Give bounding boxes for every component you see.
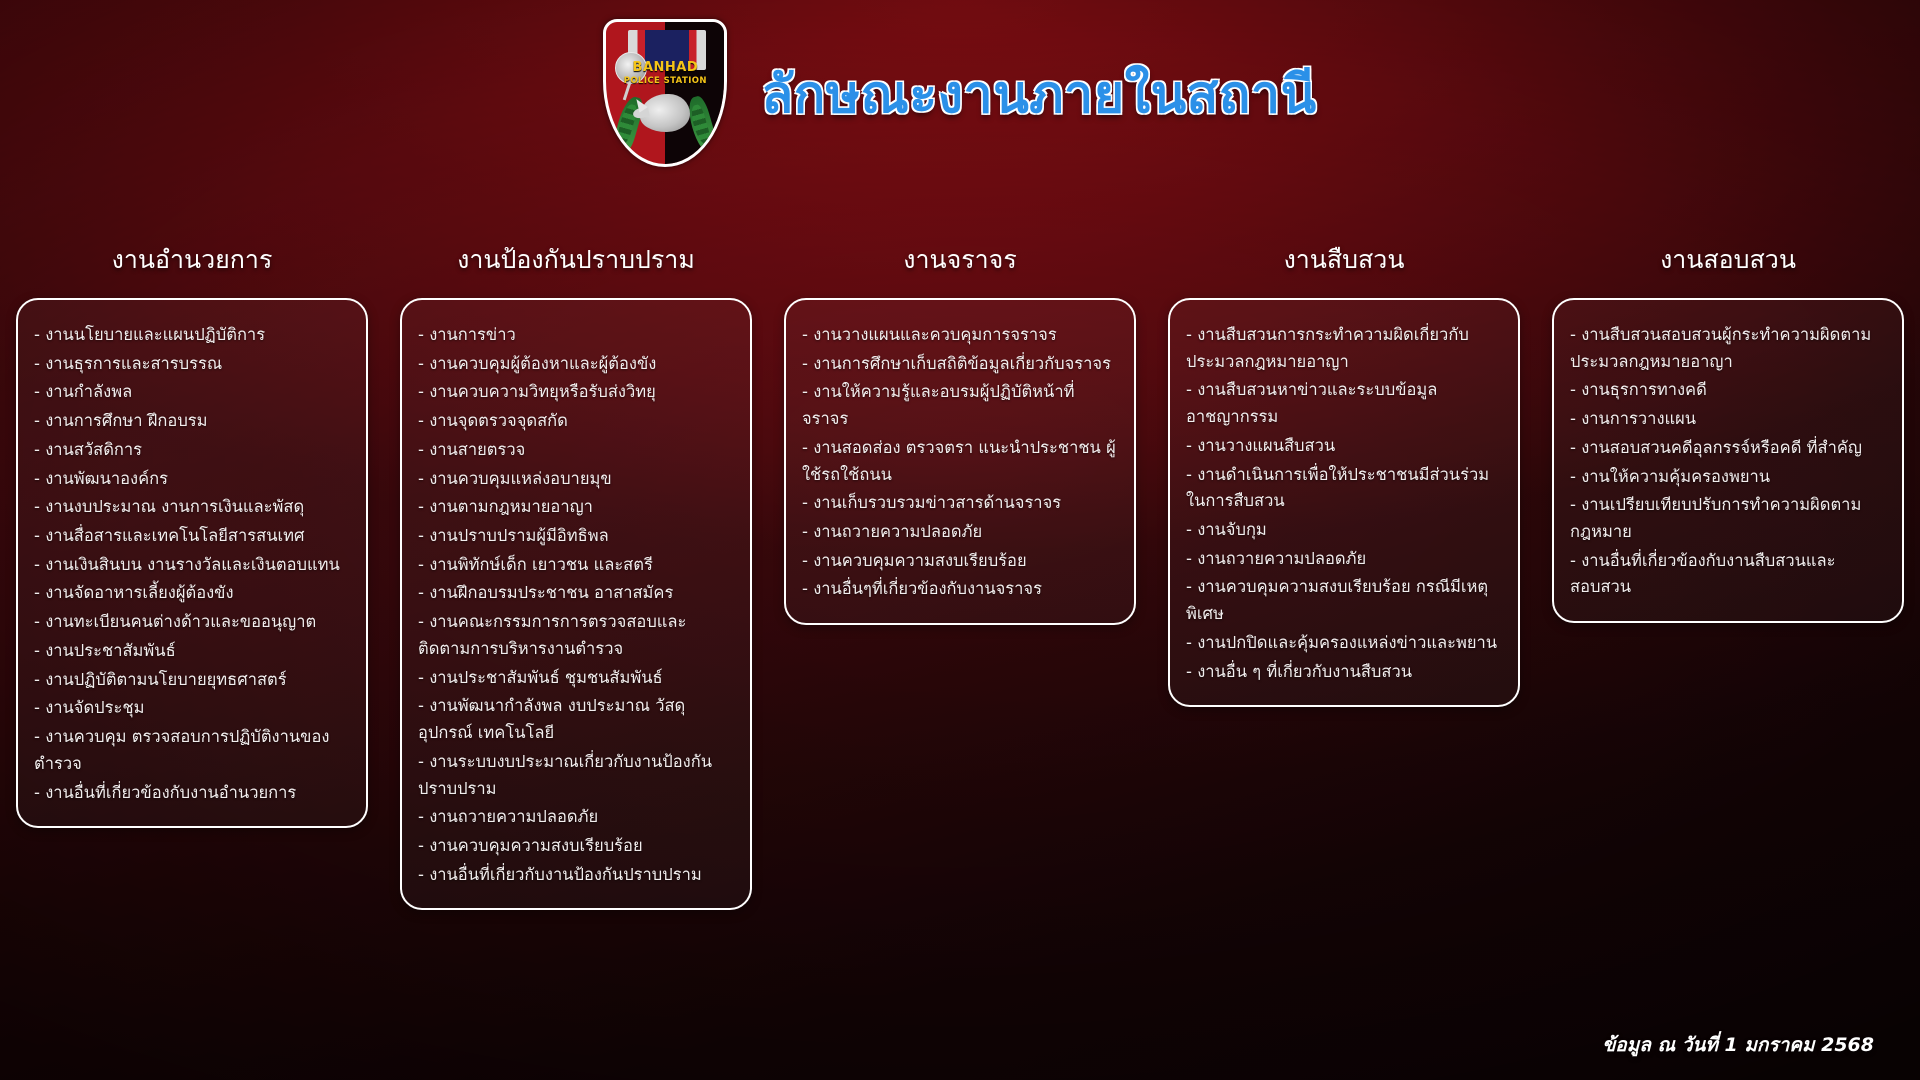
list-item: - งานอื่นที่เกี่ยวข้องกับงานสืบสวนและสอบ… xyxy=(1570,548,1886,601)
list-item: - งานอื่นที่เกี่ยวข้องกับงานอำนวยการ xyxy=(34,780,350,807)
list-item: - งานเก็บรวบรวมข่าวสารด้านจราจร xyxy=(802,490,1118,517)
list-item: - งานระบบงบประมาณเกี่ยวกับงานป้องกันปราบ… xyxy=(418,749,734,802)
list-item: - งานควบคุมความสงบเรียบร้อย กรณีมีเหตุพิ… xyxy=(1186,574,1502,627)
list-item: - งานควบคุมแหล่งอบายมุข xyxy=(418,466,734,493)
list-item: - งานวางแผนและควบคุมการจราจร xyxy=(802,322,1118,349)
column-administration: งานอำนวยการ - งานนโยบายและแผนปฏิบัติการ-… xyxy=(0,240,384,828)
badge-station-subtitle: POLICE STATION xyxy=(606,76,724,86)
column-items-box: - งานนโยบายและแผนปฏิบัติการ- งานธุรการแล… xyxy=(16,298,368,828)
column-title: งานสืบสวน xyxy=(1284,240,1405,280)
list-item: - งานกำลังพล xyxy=(34,379,350,406)
list-item: - งานตามกฎหมายอาญา xyxy=(418,494,734,521)
list-item: - งานวางแผนสืบสวน xyxy=(1186,433,1502,460)
list-item: - งานการวางแผน xyxy=(1570,406,1886,433)
badge-station-name: BANHAD xyxy=(606,60,724,75)
column-items-box: - งานสืบสวนการกระทำความผิดเกี่ยวกับประมว… xyxy=(1168,298,1520,707)
list-item: - งานสืบสวนหาข่าวและระบบข้อมูลอาชญากรรม xyxy=(1186,377,1502,430)
list-item: - งานทะเบียนคนต่างด้าวและขออนุญาต xyxy=(34,609,350,636)
list-item: - งานจุดตรวจจุดสกัด xyxy=(418,408,734,435)
list-item: - งานธุรการและสารบรรณ xyxy=(34,351,350,378)
list-item: - งานดำเนินการเพื่อให้ประชาชนมีส่วนร่วมใ… xyxy=(1186,462,1502,515)
list-item: - งานปราบปรามผู้มีอิทธิพล xyxy=(418,523,734,550)
column-title: งานอำนวยการ xyxy=(112,240,273,280)
column-inquiry: งานสอบสวน - งานสืบสวนสอบสวนผู้กระทำความผ… xyxy=(1536,240,1920,623)
list-item: - งานปกปิดและคุ้มครองแหล่งข่าวและพยาน xyxy=(1186,630,1502,657)
work-categories-container: งานอำนวยการ - งานนโยบายและแผนปฏิบัติการ-… xyxy=(0,240,1920,910)
column-title: งานจราจร xyxy=(903,240,1017,280)
list-item: - งานฝึกอบรมประชาชน อาสาสมัคร xyxy=(418,580,734,607)
list-item: - งานควบความวิทยุหรือรับส่งวิทยุ xyxy=(418,379,734,406)
list-item: - งานถวายความปลอดภัย xyxy=(1186,546,1502,573)
page-header: BANHAD POLICE STATION ลักษณะงานภายในสถาน… xyxy=(0,18,1920,168)
list-item: - งานพิทักษ์เด็ก เยาวชน และสตรี xyxy=(418,552,734,579)
data-as-of-note: ข้อมูล ณ วันที่ 1 มกราคม 2568 xyxy=(1602,1030,1874,1060)
list-item: - งานให้ความรู้และอบรมผู้ปฏิบัติหน้าที่จ… xyxy=(802,379,1118,432)
list-item: - งานเปรียบเทียบปรับการทำความผิดตามกฎหมา… xyxy=(1570,492,1886,545)
list-item: - งานการศึกษาเก็บสถิติข้อมูลเกี่ยวกับจรา… xyxy=(802,351,1118,378)
column-items-box: - งานสืบสวนสอบสวนผู้กระทำความผิดตามประมว… xyxy=(1552,298,1904,623)
list-item: - งานถวายความปลอดภัย xyxy=(802,519,1118,546)
list-item: - งานสวัสดิการ xyxy=(34,437,350,464)
list-item: - งานเงินสินบน งานรางวัลและเงินตอบแทน xyxy=(34,552,350,579)
list-item: - งานการศึกษา ฝึกอบรม xyxy=(34,408,350,435)
list-item: - งานถวายความปลอดภัย xyxy=(418,804,734,831)
column-title: งานป้องกันปราบปราม xyxy=(457,240,695,280)
list-item: - งานประชาสัมพันธ์ xyxy=(34,638,350,665)
column-items-box: - งานการข่าว- งานควบคุมผู้ต้องหาและผู้ต้… xyxy=(400,298,752,910)
list-item: - งานควบคุมความสงบเรียบร้อย xyxy=(418,833,734,860)
list-item: - งานปฏิบัติตามนโยบายยุทธศาสตร์ xyxy=(34,667,350,694)
list-item: - งานจับกุม xyxy=(1186,517,1502,544)
column-investigation: งานสืบสวน - งานสืบสวนการกระทำความผิดเกี่… xyxy=(1152,240,1536,707)
column-traffic: งานจราจร - งานวางแผนและควบคุมการจราจร- ง… xyxy=(768,240,1152,625)
list-item: - งานสายตรวจ xyxy=(418,437,734,464)
list-item: - งานอื่นที่เกี่ยวกับงานป้องกันปราบปราม xyxy=(418,862,734,889)
list-item: - งานนโยบายและแผนปฏิบัติการ xyxy=(34,322,350,349)
list-item: - งานประชาสัมพันธ์ ชุมชนสัมพันธ์ xyxy=(418,665,734,692)
list-item: - งานสื่อสารและเทคโนโลยีสารสนเทศ xyxy=(34,523,350,550)
police-badge-logo: BANHAD POLICE STATION xyxy=(603,19,727,167)
list-item: - งานควบคุมผู้ต้องหาและผู้ต้องขัง xyxy=(418,351,734,378)
list-item: - งานควบคุม ตรวจสอบการปฏิบัติงานของตำรวจ xyxy=(34,724,350,777)
list-item: - งานสืบสวนสอบสวนผู้กระทำความผิดตามประมว… xyxy=(1570,322,1886,375)
list-item: - งานให้ความคุ้มครองพยาน xyxy=(1570,464,1886,491)
list-item: - งานสอบสวนคดีอุลกรรจ์หรือคดี ที่สำคัญ xyxy=(1570,435,1886,462)
list-item: - งานสืบสวนการกระทำความผิดเกี่ยวกับประมว… xyxy=(1186,322,1502,375)
badge-shield-shape: BANHAD POLICE STATION xyxy=(603,19,727,167)
column-crime-prevention: งานป้องกันปราบปราม - งานการข่าว- งานควบค… xyxy=(384,240,768,910)
list-item: - งานพัฒนาองค์กร xyxy=(34,466,350,493)
list-item: - งานการข่าว xyxy=(418,322,734,349)
list-item: - งานจัดอาหารเลี้ยงผู้ต้องขัง xyxy=(34,580,350,607)
column-items-box: - งานวางแผนและควบคุมการจราจร- งานการศึกษ… xyxy=(784,298,1136,625)
list-item: - งานธุรการทางคดี xyxy=(1570,377,1886,404)
list-item: - งานอื่นๆที่เกี่ยวข้องกับงานจราจร xyxy=(802,576,1118,603)
column-title: งานสอบสวน xyxy=(1660,240,1796,280)
page-title: ลักษณะงานภายในสถานี xyxy=(761,52,1316,135)
rhino-icon xyxy=(640,94,690,132)
list-item: - งานอื่น ๆ ที่เกี่ยวกับงานสืบสวน xyxy=(1186,659,1502,686)
list-item: - งานควบคุมความสงบเรียบร้อย xyxy=(802,548,1118,575)
list-item: - งานจัดประชุม xyxy=(34,695,350,722)
list-item: - งานคณะกรรมการการตรวจสอบและติดตามการบริ… xyxy=(418,609,734,662)
list-item: - งานพัฒนากำลังพล งบประมาณ วัสดุ อุปกรณ์… xyxy=(418,693,734,746)
list-item: - งานงบประมาณ งานการเงินและพัสดุ xyxy=(34,494,350,521)
list-item: - งานสอดส่อง ตรวจตรา แนะนำประชาชน ผู้ใช้… xyxy=(802,435,1118,488)
